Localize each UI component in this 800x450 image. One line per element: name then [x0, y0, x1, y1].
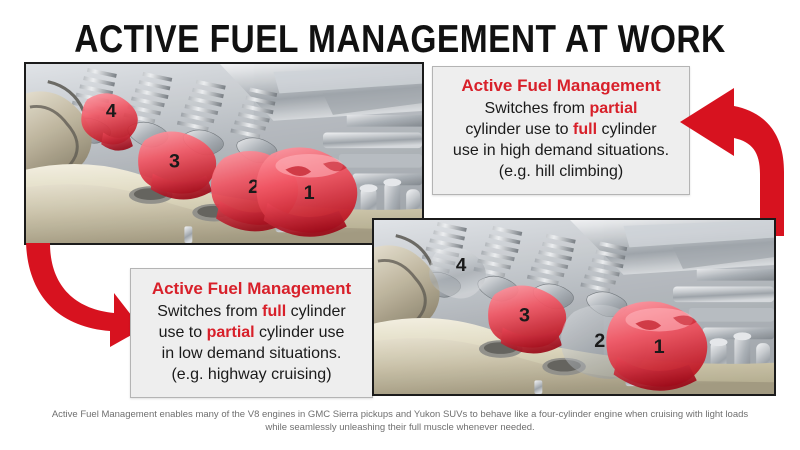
curved-arrow-right-icon [676, 86, 800, 236]
callout-full-to-partial: Active Fuel Management Switches from ful… [130, 268, 373, 398]
callout-top-line-3: use in high demand situations. [439, 140, 683, 161]
arrow-down-right-curved [14, 243, 142, 347]
engine-image-full-mode: 4 3 2 1 [24, 62, 424, 245]
arrow-up-left-curved [676, 86, 800, 236]
callout-bottom-line-3: in low demand situations. [137, 343, 366, 364]
callout-bottom-heading: Active Fuel Management [137, 278, 366, 299]
callout-top-heading: Active Fuel Management [439, 75, 683, 96]
callout-bottom-line-2: use to partial cylinder use [137, 322, 366, 343]
callout-bottom-line-4: (e.g. highway cruising) [137, 364, 366, 385]
page-title: ACTIVE FUEL MANAGEMENT AT WORK [56, 18, 744, 62]
callout-bottom-line-1: Switches from full cylinder [137, 301, 366, 322]
callout-partial-to-full: Active Fuel Management Switches from par… [432, 66, 690, 195]
callout-top-line-4: (e.g. hill climbing) [439, 161, 683, 182]
engine-image-partial-mode: 4 3 2 1 [372, 218, 776, 396]
curved-arrow-left-icon [14, 243, 142, 347]
callout-top-line-1: Switches from partial [439, 98, 683, 119]
infographic-root: ACTIVE FUEL MANAGEMENT AT WORK [0, 0, 800, 450]
footer-caption: Active Fuel Management enables many of t… [48, 408, 752, 434]
callout-top-line-2: cylinder use to full cylinder [439, 119, 683, 140]
engine-cutaway-illustration-bottom: 4 3 2 1 [374, 220, 774, 394]
engine-cutaway-illustration-top: 4 3 2 1 [26, 64, 422, 243]
